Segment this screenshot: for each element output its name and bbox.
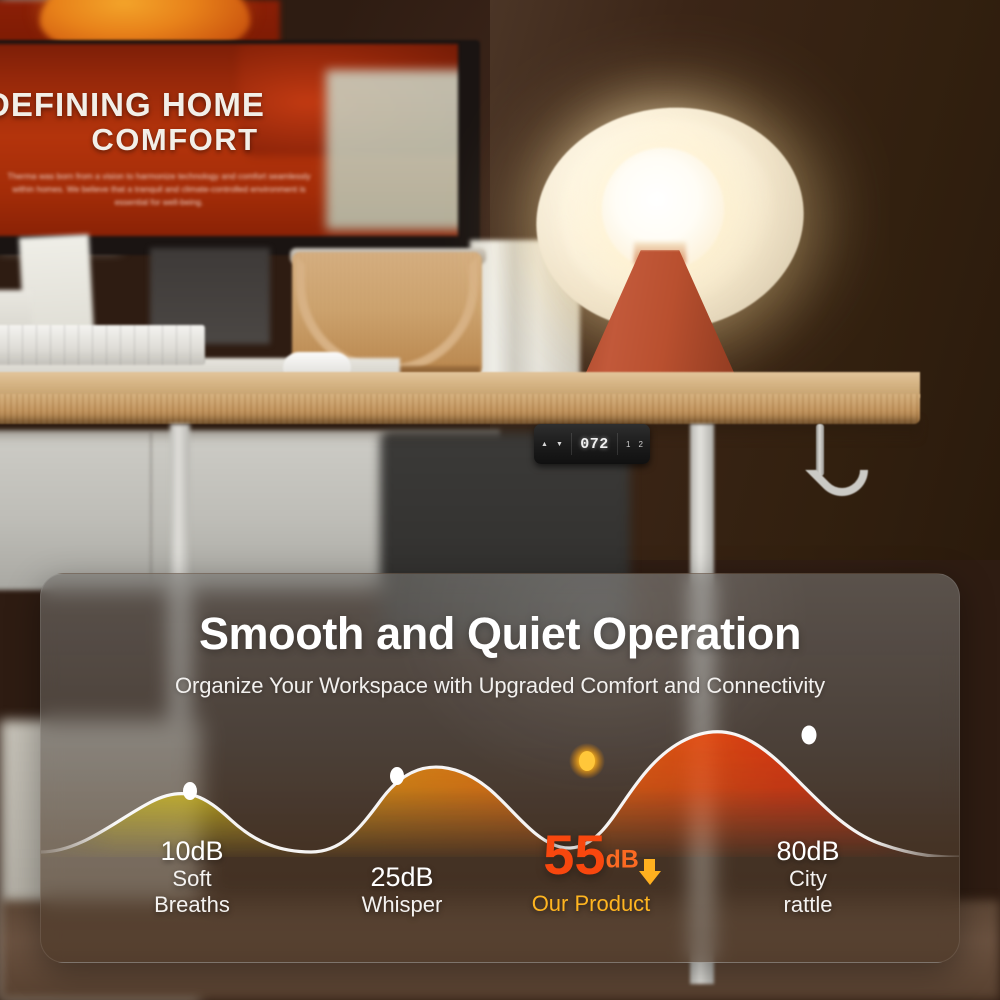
page-subtitle: Organize Your Workspace with Upgraded Co… xyxy=(41,673,959,699)
peak-marker-4 xyxy=(802,726,817,745)
monitor-headline-line1: DEFINING HOME xyxy=(0,86,366,124)
desk-control-panel[interactable]: ▲ ▼ 072 1 2 xyxy=(534,424,650,464)
panel-divider xyxy=(571,433,572,455)
noise-label-line2: rattle xyxy=(743,892,873,918)
peak-marker-3 xyxy=(579,751,595,771)
peak-marker-1 xyxy=(183,782,197,800)
noise-level-labels: 10dB Soft Breaths 25dB Whisper 55dB Our … xyxy=(41,836,960,956)
wireless-keyboard xyxy=(0,325,205,365)
noise-db-unit: dB xyxy=(605,846,638,874)
noise-label-line1: Our Product xyxy=(503,891,679,917)
screenshot-stage: DEFINING HOME COMFORT Therma was born fr… xyxy=(0,0,1000,1000)
triangle-up-icon[interactable]: ▲ xyxy=(541,441,548,448)
arrow-down-icon xyxy=(639,871,661,885)
preset-button-1[interactable]: 1 xyxy=(626,440,630,449)
noise-db-value: 10dB xyxy=(137,836,247,866)
our-product-value-group: 55dB xyxy=(543,827,639,883)
noise-label-soft-breaths: 10dB Soft Breaths xyxy=(137,836,247,917)
preset-button-2[interactable]: 2 xyxy=(639,440,643,449)
monitor-body-text: Therma was born from a vision to harmoni… xyxy=(0,170,324,210)
feature-card: Smooth and Quiet Operation Organize Your… xyxy=(40,573,960,963)
noise-label-line1: Soft xyxy=(137,866,247,892)
noise-label-line2: Breaths xyxy=(137,892,247,918)
noise-db-value: 25dB xyxy=(344,862,460,892)
noise-db-value: 55 xyxy=(543,823,605,886)
noise-label-whisper: 25dB Whisper xyxy=(344,862,460,918)
cabinet-seam xyxy=(150,432,152,584)
height-display: 072 xyxy=(580,436,609,453)
triangle-down-icon[interactable]: ▼ xyxy=(556,441,563,448)
noise-label-line1: City xyxy=(743,866,873,892)
noise-level-chart xyxy=(41,702,960,857)
desk-shadow xyxy=(0,420,920,442)
noise-label-city-rattle: 80dB City rattle xyxy=(743,836,873,917)
noise-wave-svg xyxy=(41,702,960,857)
noise-label-line1: Whisper xyxy=(344,892,460,918)
page-title: Smooth and Quiet Operation xyxy=(41,608,959,660)
peak-marker-2 xyxy=(390,767,404,785)
panel-divider xyxy=(617,433,618,455)
noise-label-our-product: 55dB Our Product xyxy=(503,827,679,917)
noise-db-value: 80dB xyxy=(743,836,873,866)
monitor-headline-line2: COMFORT xyxy=(0,122,350,158)
